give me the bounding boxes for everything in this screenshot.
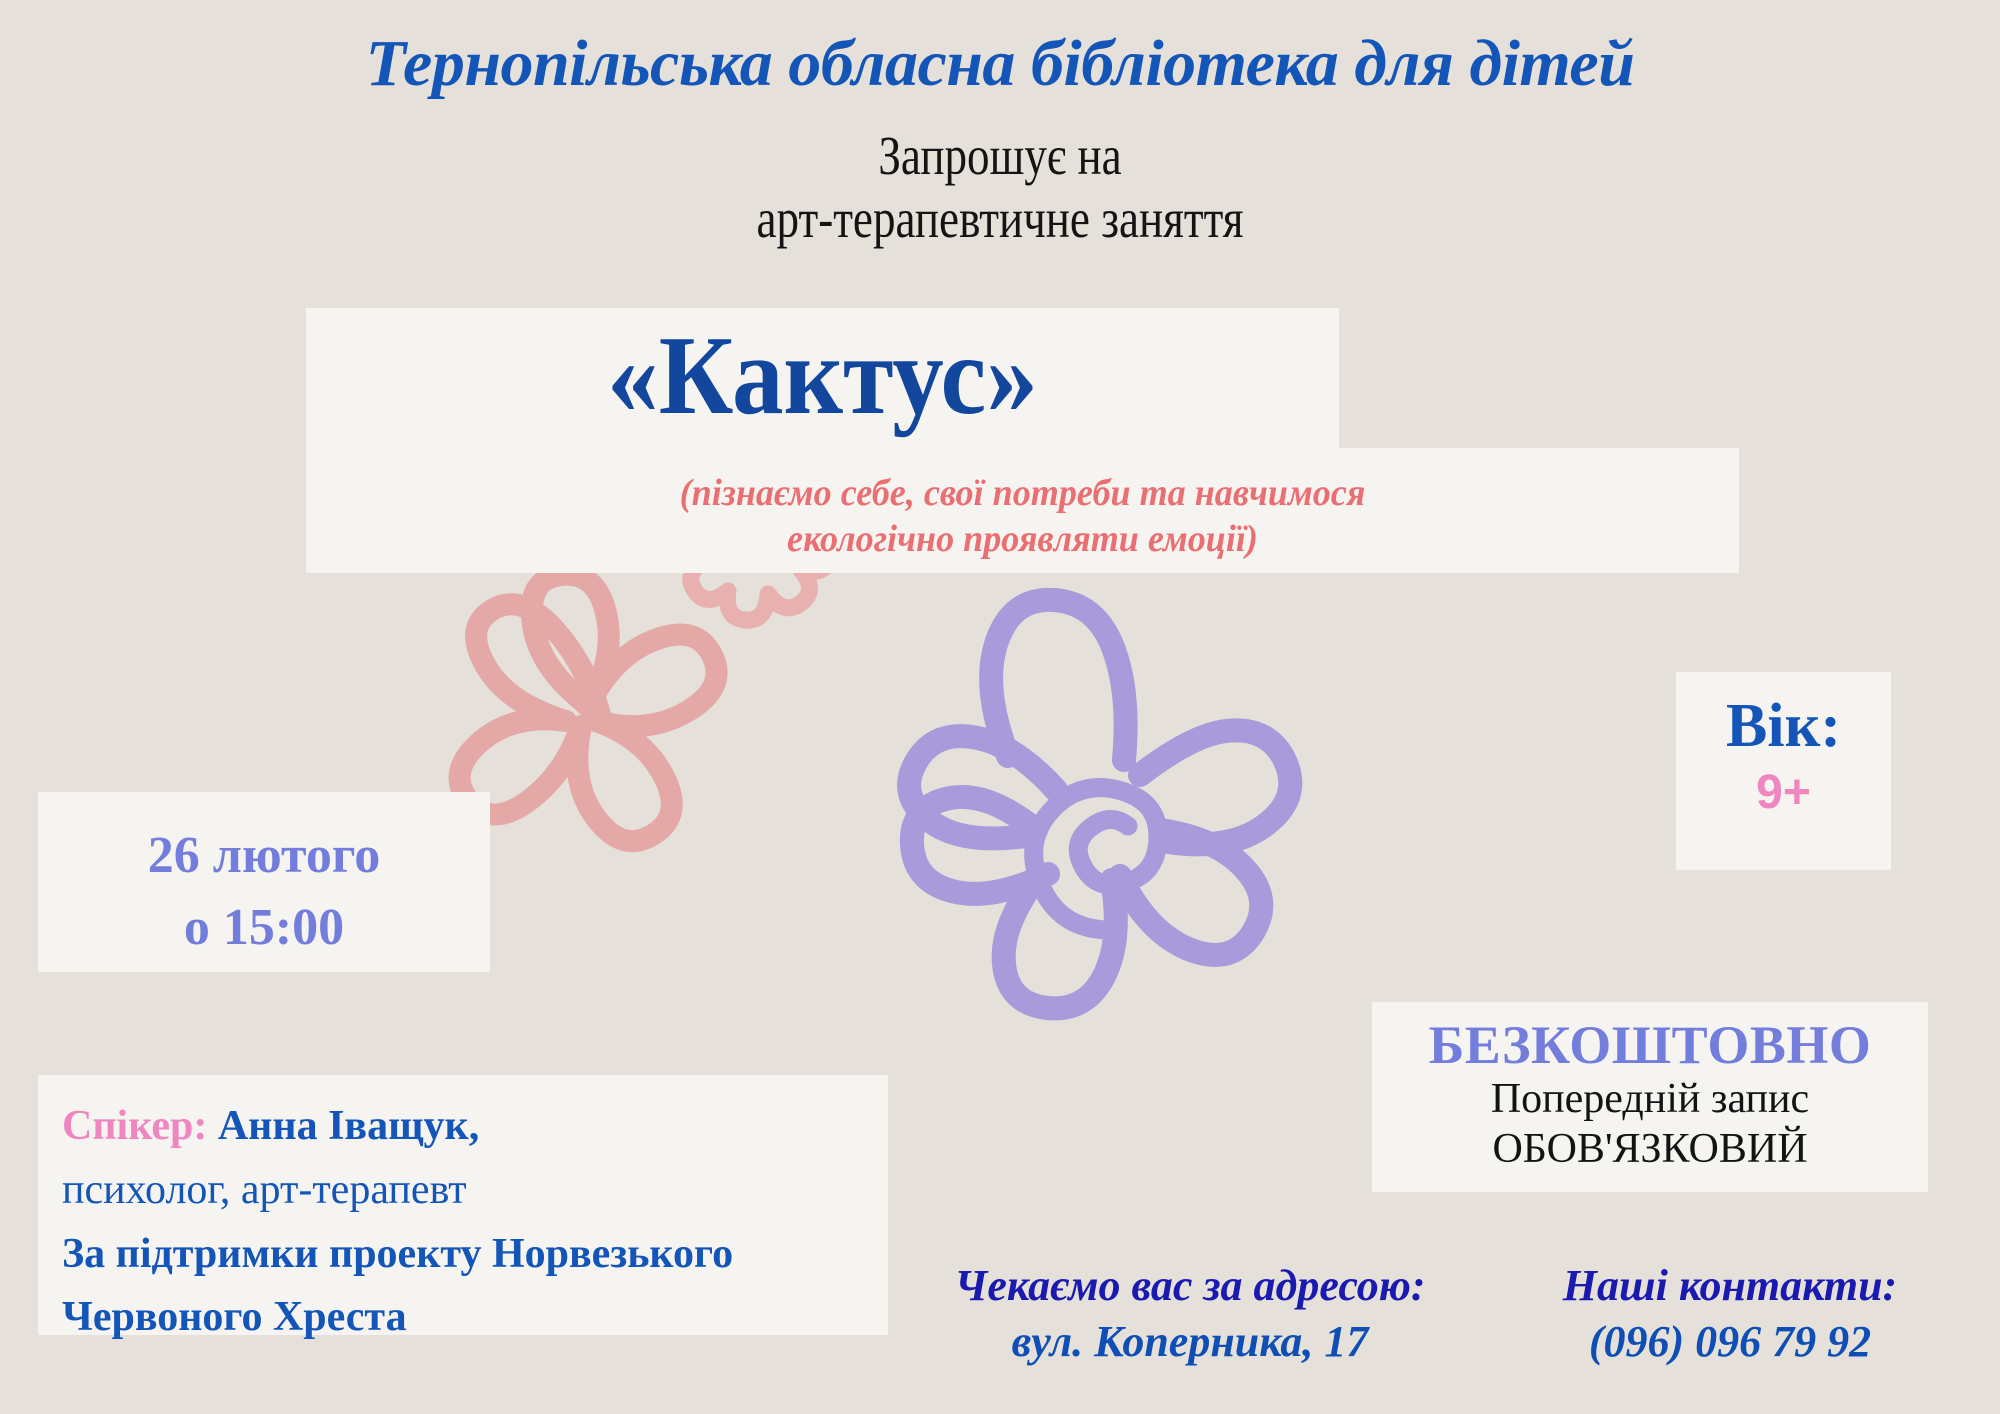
phone-heading: Наші контакти: [1520, 1258, 1940, 1314]
support-line-1: За підтримки проекту Норвезького [62, 1223, 888, 1287]
registration-note: Попередній запис ОБОВ'ЯЗКОВИЙ [1372, 1075, 1928, 1174]
invite-text: Запрошує на арт-терапевтичне заняття [180, 125, 1820, 250]
registration-note-line-2: ОБОВ'ЯЗКОВИЙ [1372, 1125, 1928, 1175]
event-subtitle: (пізнаємо себе, свої потреби та навчимос… [342, 470, 1703, 563]
speaker-box: Спікер: Анна Іващук, психолог, арт-терап… [38, 1075, 888, 1335]
support-line-2: Червоного Хреста [62, 1286, 888, 1350]
speaker-name-line: Спікер: Анна Іващук, [62, 1095, 888, 1159]
event-date: 26 лютого [38, 792, 490, 892]
organization-title: Тернопільська обласна бібліотека для діт… [0, 26, 2000, 102]
event-title: «Кактус» [347, 320, 1297, 432]
event-subtitle-line-2: екологічно проявляти емоції) [342, 516, 1703, 562]
speaker-label: Спікер: [62, 1103, 207, 1149]
flower-large-rose-icon [460, 575, 717, 841]
event-subtitle-line-1: (пізнаємо себе, свої потреби та навчимос… [342, 470, 1703, 516]
registration-note-line-1: Попередній запис [1372, 1075, 1928, 1125]
free-label: БЕЗКОШТОВНО [1372, 1002, 1928, 1075]
age-box: Вік: 9+ [1676, 672, 1891, 870]
event-time: о 15:00 [38, 892, 490, 964]
phone-block: Наші контакти: (096) 096 79 92 [1520, 1258, 1940, 1371]
age-value: 9+ [1676, 769, 1891, 817]
price-box: БЕЗКОШТОВНО Попередній запис ОБОВ'ЯЗКОВИ… [1372, 1002, 1928, 1192]
invite-line-2: арт-терапевтичне заняття [180, 188, 1820, 251]
speaker-name: Анна Іващук, [218, 1103, 479, 1149]
phone-value[interactable]: (096) 096 79 92 [1520, 1314, 1940, 1370]
address-heading: Чекаємо вас за адресою: [930, 1258, 1450, 1314]
poster-canvas: Тернопільська обласна бібліотека для діт… [0, 0, 2000, 1414]
flower-large-rose-center-icon [590, 707, 612, 729]
flower-large-lilac-icon [909, 600, 1290, 1009]
invite-line-1: Запрошує на [180, 125, 1820, 188]
address-block: Чекаємо вас за адресою: вул. Коперника, … [930, 1258, 1450, 1371]
address-value: вул. Коперника, 17 [930, 1314, 1450, 1370]
speaker-role: психолог, арт-терапевт [62, 1159, 888, 1223]
datetime-box: 26 лютого о 15:00 [38, 792, 490, 972]
age-label: Вік: [1676, 694, 1891, 759]
